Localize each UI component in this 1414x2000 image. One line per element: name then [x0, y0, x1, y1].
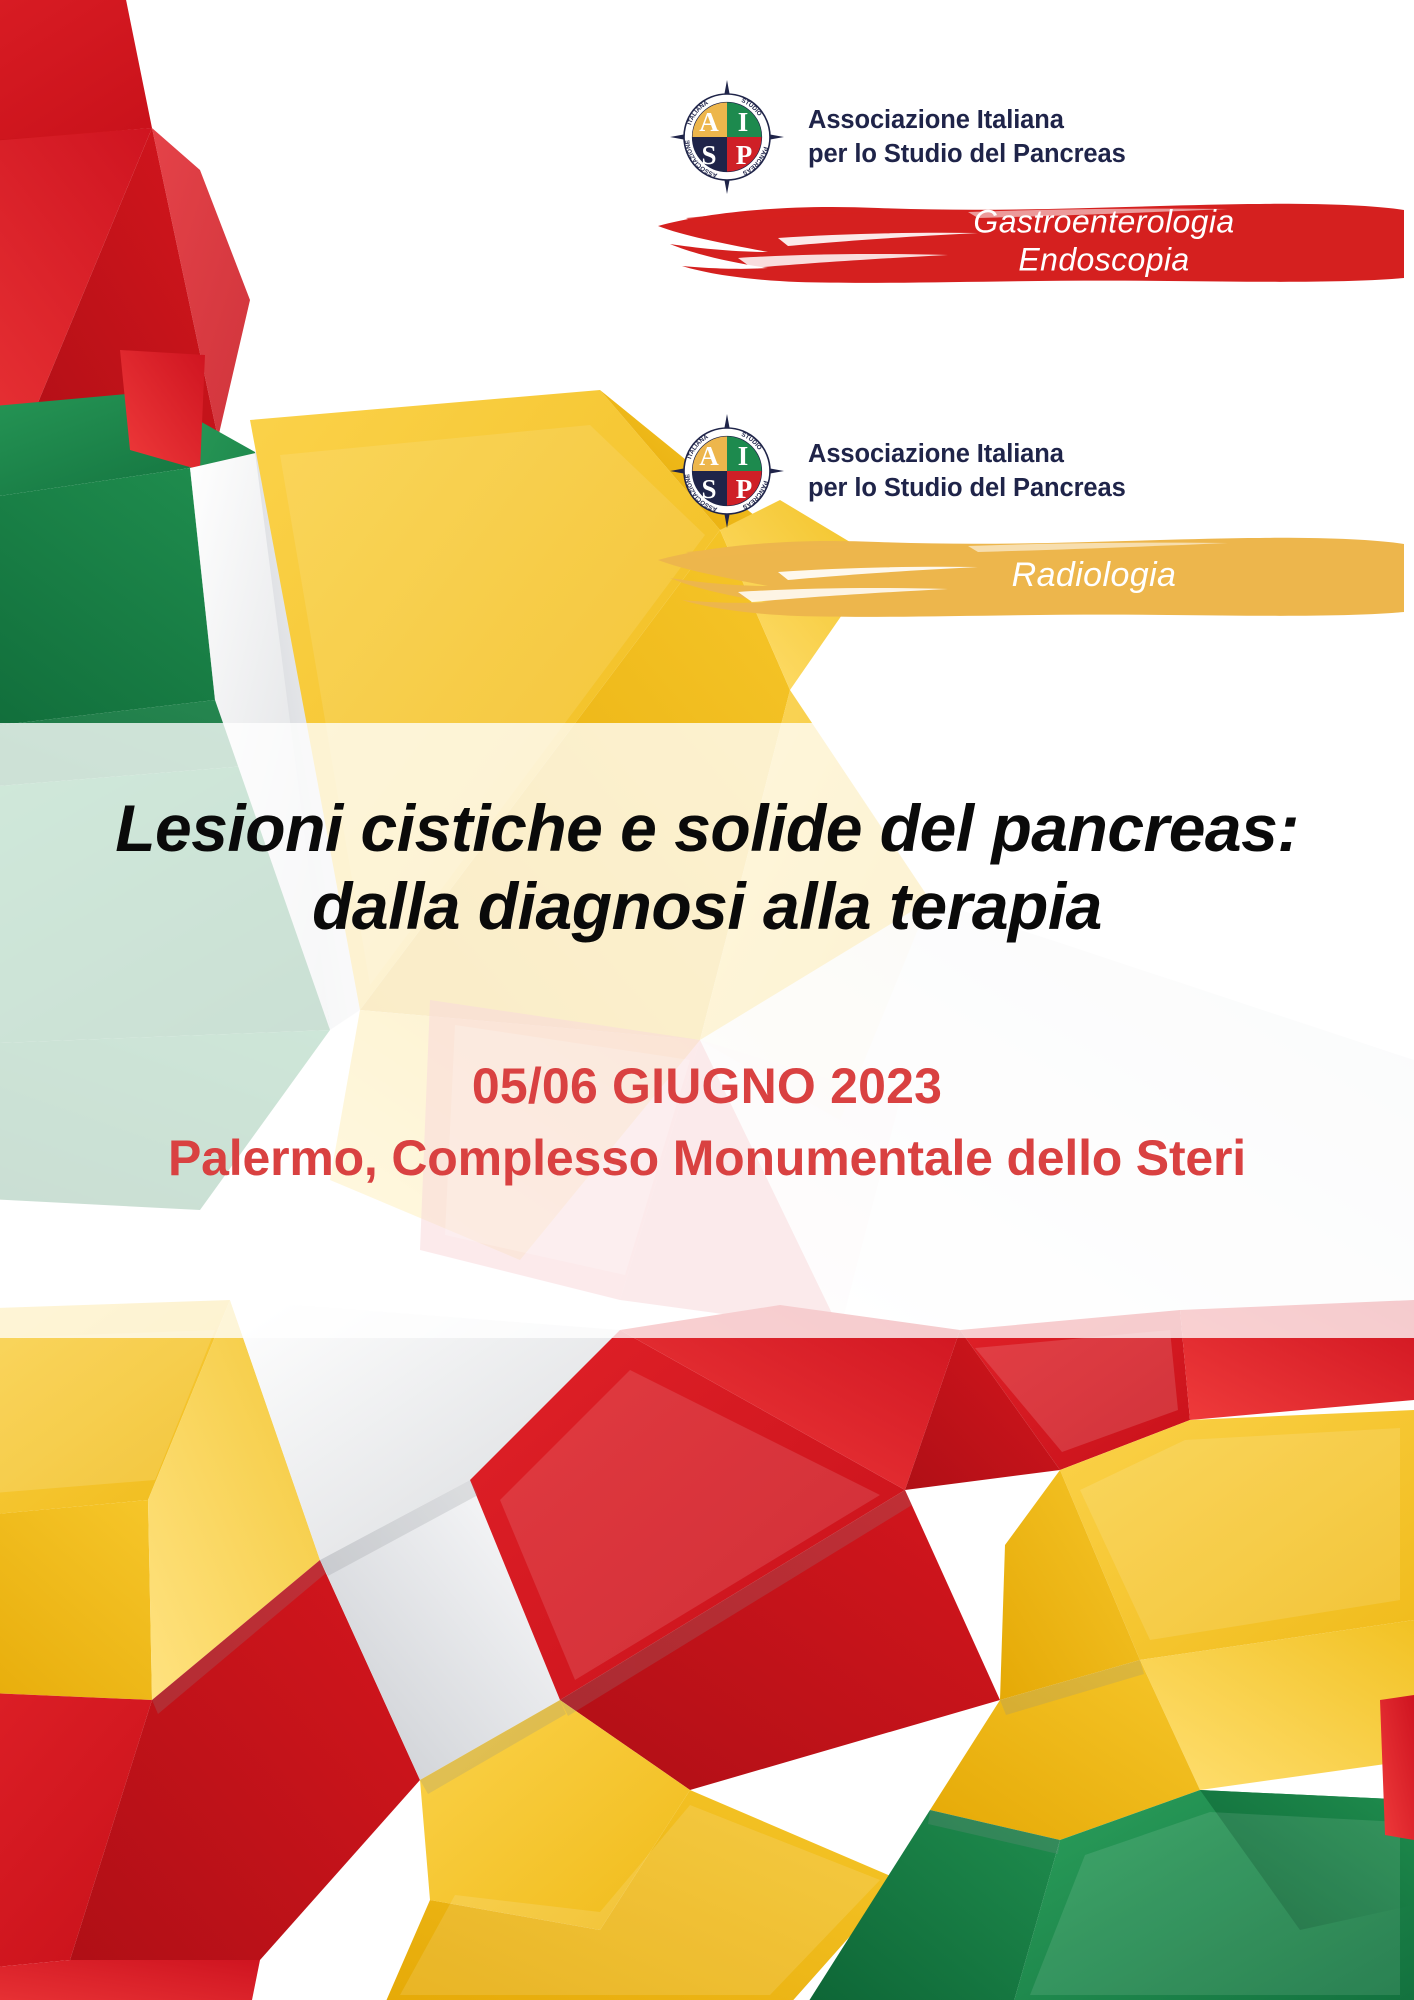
- svg-text:I: I: [738, 441, 749, 471]
- brush-label-gastro: Gastroenterologia Endoscopia: [648, 203, 1390, 279]
- aisp-compass-logo-icon: A I S P ITALIANA STUDIO PANCREAS ASSOCIA…: [668, 412, 786, 530]
- brush-label-line1: Gastroenterologia: [818, 203, 1390, 241]
- logo-block-radiologia: A I S P ITALIANA STUDIO PANCREAS ASSOCIA…: [648, 412, 1408, 634]
- svg-text:A: A: [699, 107, 719, 137]
- event-location: Palermo, Complesso Monumentale dello Ste…: [0, 1126, 1414, 1191]
- title-line-2: dalla diagnosi alla terapia: [0, 868, 1414, 946]
- bg-shape-red-sliver-right: [1380, 1695, 1414, 1840]
- brush-label-radio: Radiologia: [648, 555, 1390, 595]
- logo-org-line1: Associazione Italiana: [808, 103, 1126, 137]
- geometric-background-art: [0, 0, 1414, 2000]
- logo-org-name-gastro: Associazione Italiana per lo Studio del …: [808, 103, 1126, 171]
- brush-banner-gastro: Gastroenterologia Endoscopia: [648, 182, 1408, 300]
- poster-title: Lesioni cistiche e solide del pancreas: …: [0, 790, 1414, 946]
- logo-row-gastro: A I S P ITALIANA STUDIO PANCREAS ASSOCIA…: [648, 78, 1408, 196]
- logo-org-line1: Associazione Italiana: [808, 437, 1126, 471]
- logo-block-gastroenterologia: A I S P ITALIANA STUDIO PANCREAS ASSOCIA…: [648, 78, 1408, 300]
- event-date: 05/06 GIUGNO 2023: [0, 1055, 1414, 1118]
- conference-poster: A I S P ITALIANA STUDIO PANCREAS ASSOCIA…: [0, 0, 1414, 2000]
- logo-row-radio: A I S P ITALIANA STUDIO PANCREAS ASSOCIA…: [648, 412, 1408, 530]
- logo-org-line2: per lo Studio del Pancreas: [808, 471, 1126, 505]
- event-details: 05/06 GIUGNO 2023 Palermo, Complesso Mon…: [0, 1055, 1414, 1191]
- logo-org-name-radio: Associazione Italiana per lo Studio del …: [808, 437, 1126, 505]
- brush-banner-radio: Radiologia: [648, 516, 1408, 634]
- svg-text:A: A: [699, 441, 719, 471]
- svg-text:I: I: [738, 107, 749, 137]
- title-line-1: Lesioni cistiche e solide del pancreas:: [0, 790, 1414, 868]
- aisp-compass-logo-icon: A I S P ITALIANA STUDIO PANCREAS ASSOCIA…: [668, 78, 786, 196]
- brush-label-line1: Radiologia: [798, 555, 1390, 595]
- logo-org-line2: per lo Studio del Pancreas: [808, 137, 1126, 171]
- brush-label-line2: Endoscopia: [818, 241, 1390, 279]
